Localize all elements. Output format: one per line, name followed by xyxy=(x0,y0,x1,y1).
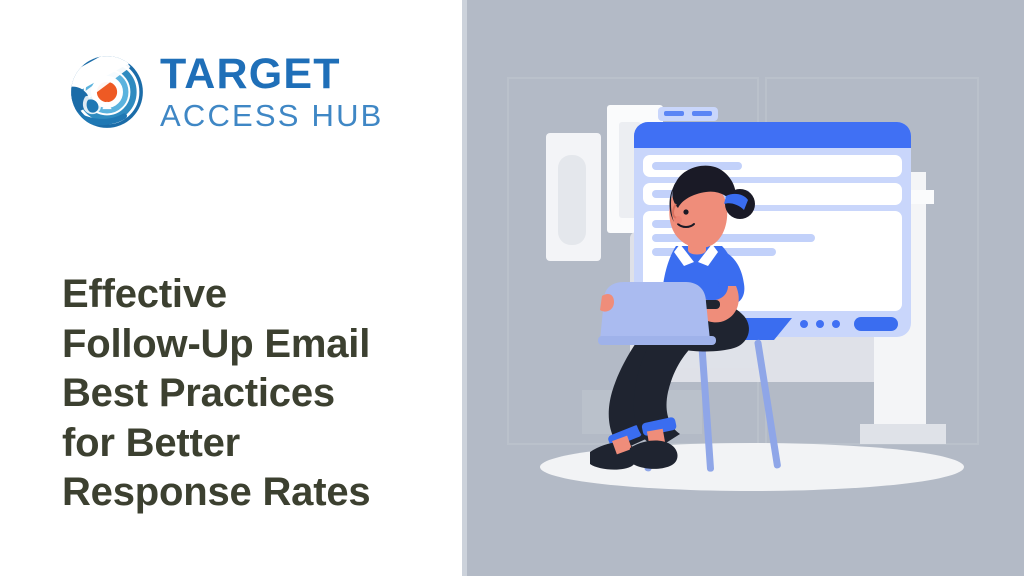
brand-title: TARGET xyxy=(160,53,384,95)
footer-dot-2 xyxy=(816,320,824,328)
hero-illustration xyxy=(462,0,1024,576)
page-title: Effective Follow-Up Email Best Practices… xyxy=(62,270,422,518)
poster-canvas: TARGET ACCESS HUB Effective Follow-Up Em… xyxy=(0,0,1024,576)
window-tab-bar-2 xyxy=(692,111,712,116)
left-content-panel: TARGET ACCESS HUB Effective Follow-Up Em… xyxy=(0,0,462,576)
pillar-base xyxy=(860,424,946,444)
headline-line-3: Best Practices xyxy=(62,369,422,419)
window-tab-bar-1 xyxy=(664,111,684,116)
footer-dot-3 xyxy=(832,320,840,328)
headline-line-1: Effective xyxy=(62,270,422,320)
panel-divider xyxy=(462,0,467,576)
footer-dot-1 xyxy=(800,320,808,328)
brand-logo-text: TARGET ACCESS HUB xyxy=(160,53,384,131)
person-blush xyxy=(674,216,682,224)
brand-subtitle: ACCESS HUB xyxy=(160,100,384,131)
wall-panel-left-inset xyxy=(558,155,586,245)
laptop xyxy=(598,282,716,345)
laptop-lid xyxy=(600,282,710,340)
send-pill-button xyxy=(854,317,898,331)
headline-line-2: Follow-Up Email xyxy=(62,320,422,370)
headline-line-5: Response Rates xyxy=(62,468,422,518)
person-eye xyxy=(683,209,688,214)
headline-line-4: for Better xyxy=(62,419,422,469)
target-globe-logo-icon xyxy=(68,53,146,131)
window-header-bar xyxy=(634,122,911,148)
illustration-svg xyxy=(462,0,1024,576)
brand-logo: TARGET ACCESS HUB xyxy=(68,53,384,131)
laptop-base xyxy=(598,336,716,345)
